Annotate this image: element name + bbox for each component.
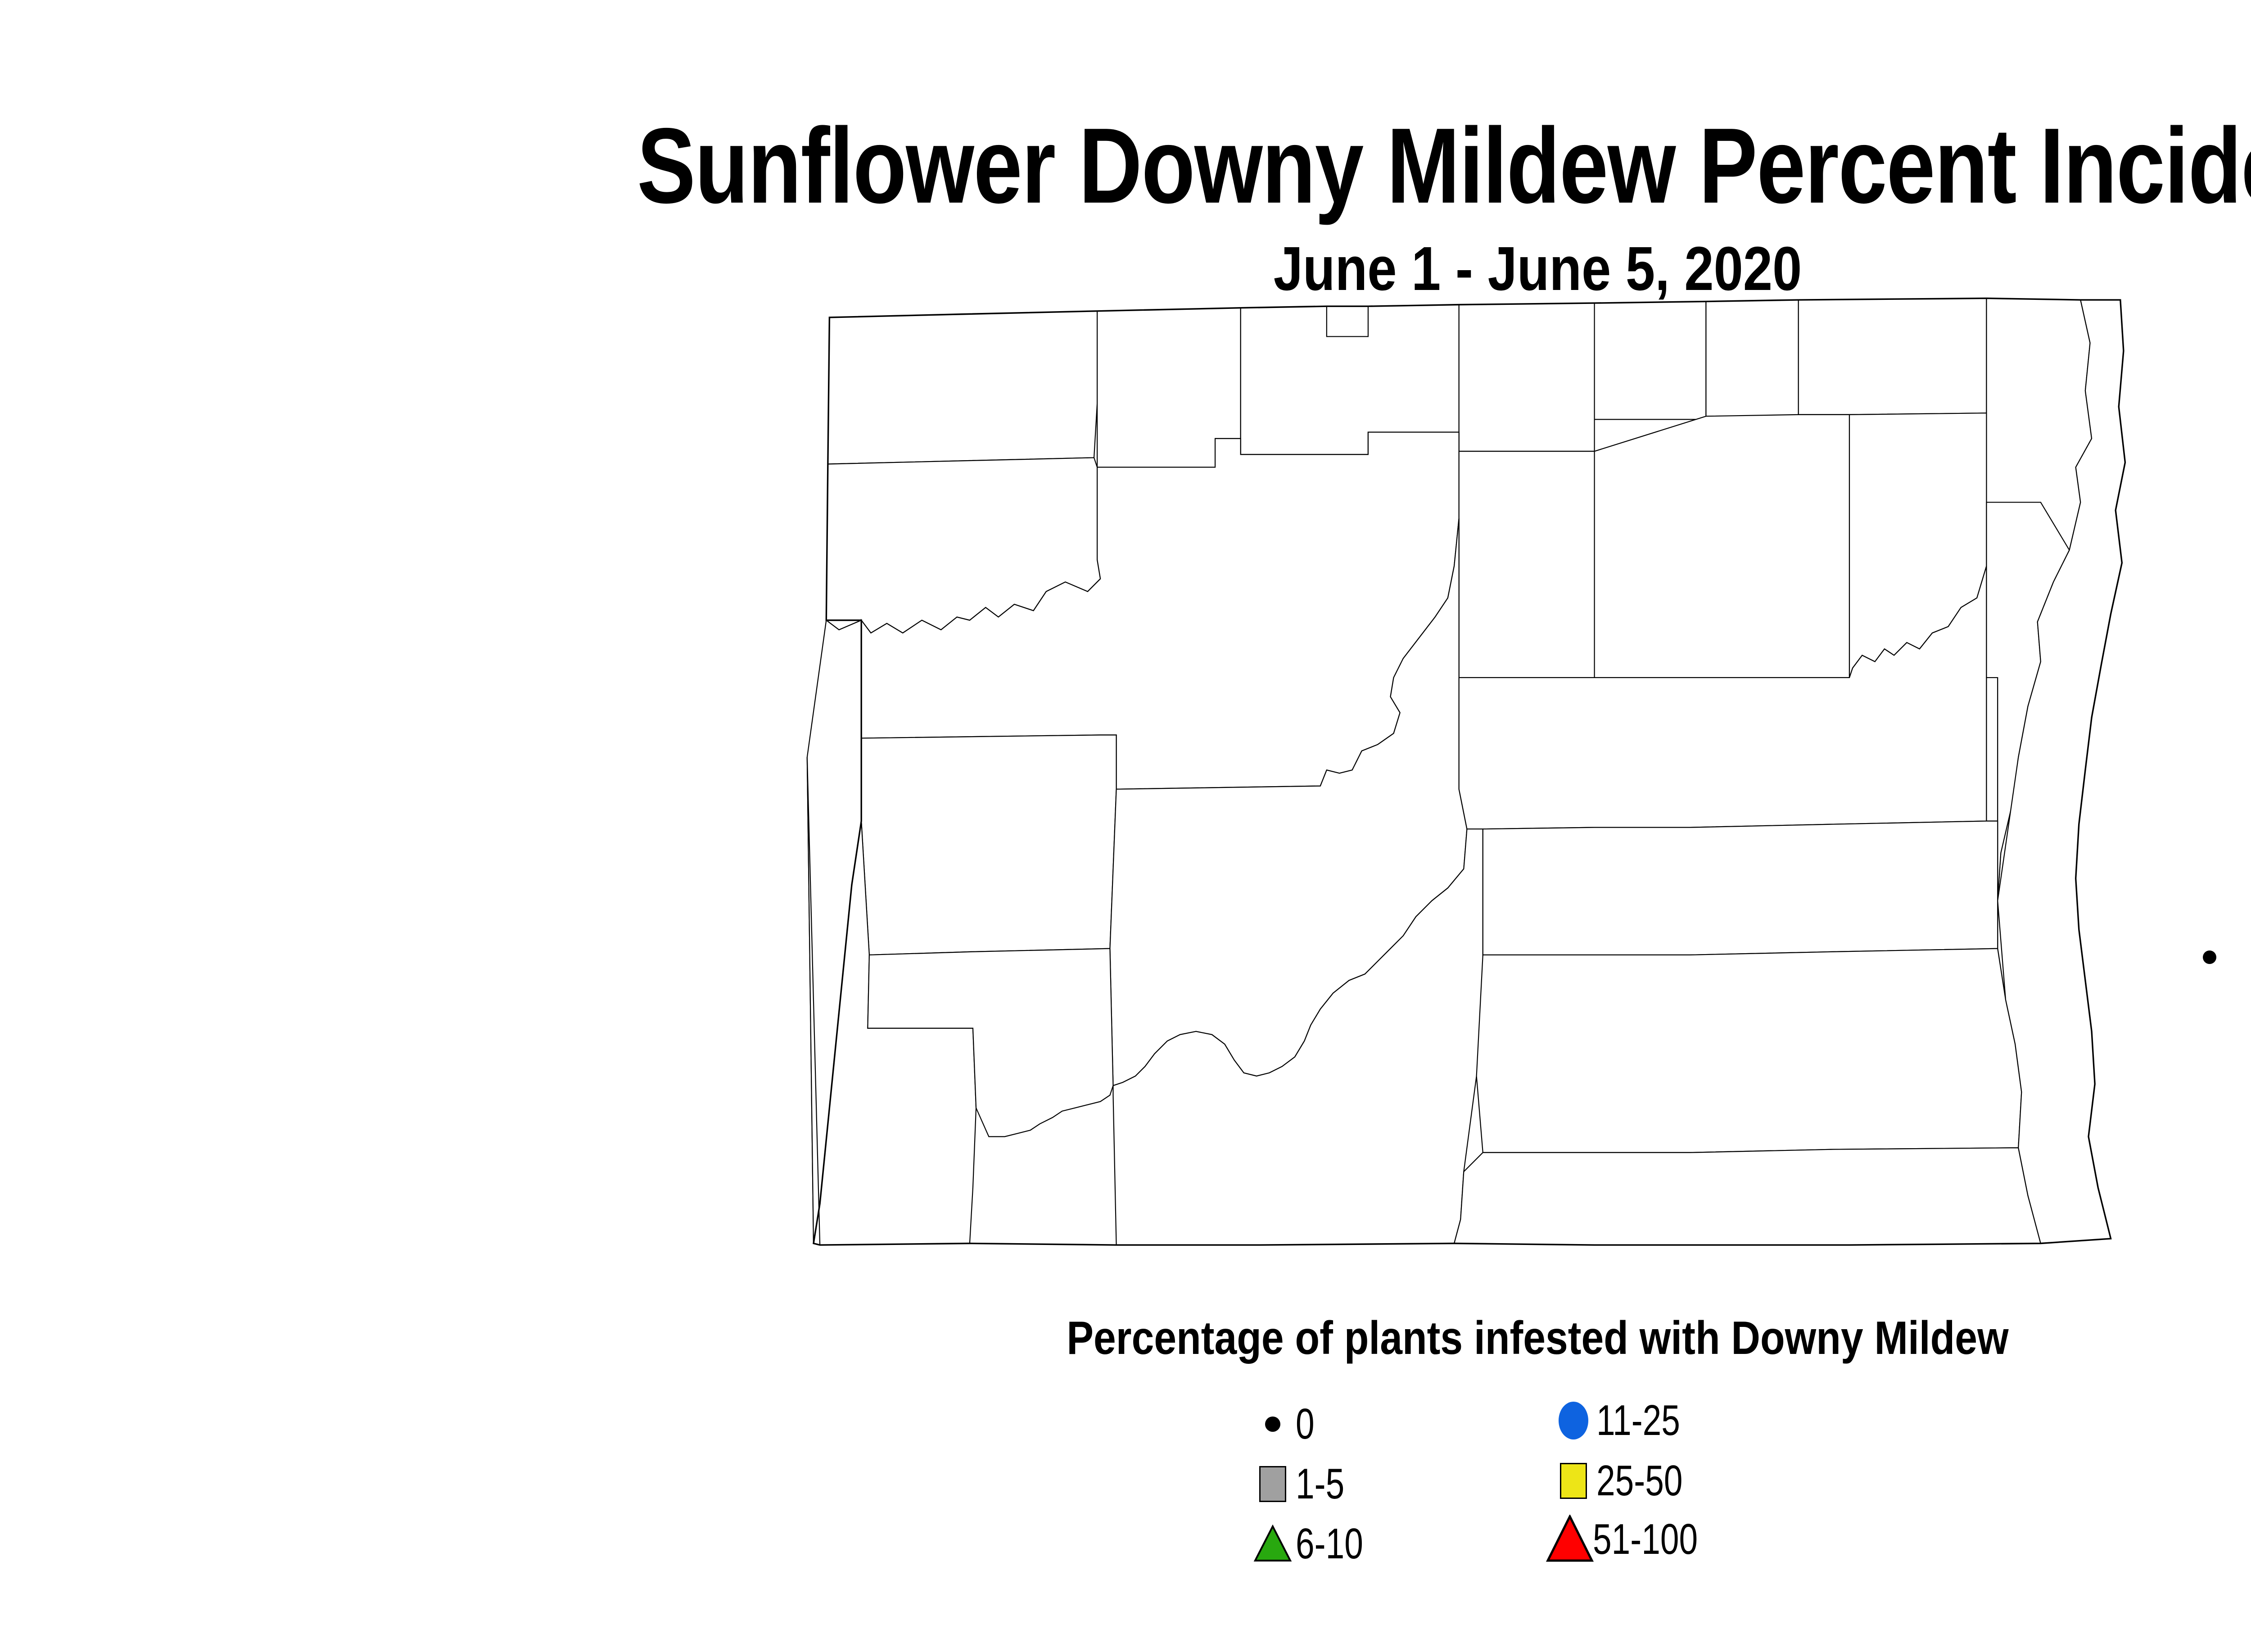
legend-item-25-50[interactable]: 25-50 <box>1557 1459 1707 1503</box>
legend-symbol-triangle-icon <box>1256 1525 1289 1563</box>
legend-label-11-25: 11-25 <box>1596 1399 1680 1442</box>
legend-item-51-100[interactable]: 51-100 <box>1553 1518 1727 1561</box>
legend-item-6-10[interactable]: 6-10 <box>1256 1522 1382 1566</box>
legend-label-6-10: 6-10 <box>1296 1522 1363 1566</box>
legend-label-0: 0 <box>1296 1403 1315 1446</box>
legend-item-11-25[interactable]: 11-25 <box>1557 1399 1704 1442</box>
legend-label-25-50: 25-50 <box>1596 1459 1683 1503</box>
title-block: Sunflower Downy Mildew Percent Incidence… <box>0 0 2251 300</box>
legend-symbol-triangle-icon <box>1553 1521 1587 1558</box>
legend-item-1-5[interactable]: 1-5 <box>1256 1462 1358 1506</box>
map-legend: Percentage of plants infested with Downy… <box>0 1315 2251 1362</box>
county-boundaries <box>807 298 2125 1245</box>
legend-label-51-100: 51-100 <box>1593 1518 1698 1561</box>
map-datapoint-0 <box>2203 950 2216 964</box>
page-title: Sunflower Downy Mildew Percent Incidence <box>277 113 2251 220</box>
north-dakota-county-map <box>734 279 2251 1283</box>
legend-title: Percentage of plants infested with Downy… <box>215 1315 2251 1362</box>
legend-symbol-circle-icon <box>1557 1402 1590 1439</box>
legend-label-1-5: 1-5 <box>1296 1462 1344 1506</box>
legend-item-0[interactable]: 0 <box>1256 1403 1320 1446</box>
map-svg <box>734 279 2251 1283</box>
legend-symbol-square-icon <box>1256 1465 1289 1503</box>
legend-symbol-small-dot-icon <box>1256 1405 1289 1443</box>
legend-symbol-square-icon <box>1557 1462 1590 1500</box>
